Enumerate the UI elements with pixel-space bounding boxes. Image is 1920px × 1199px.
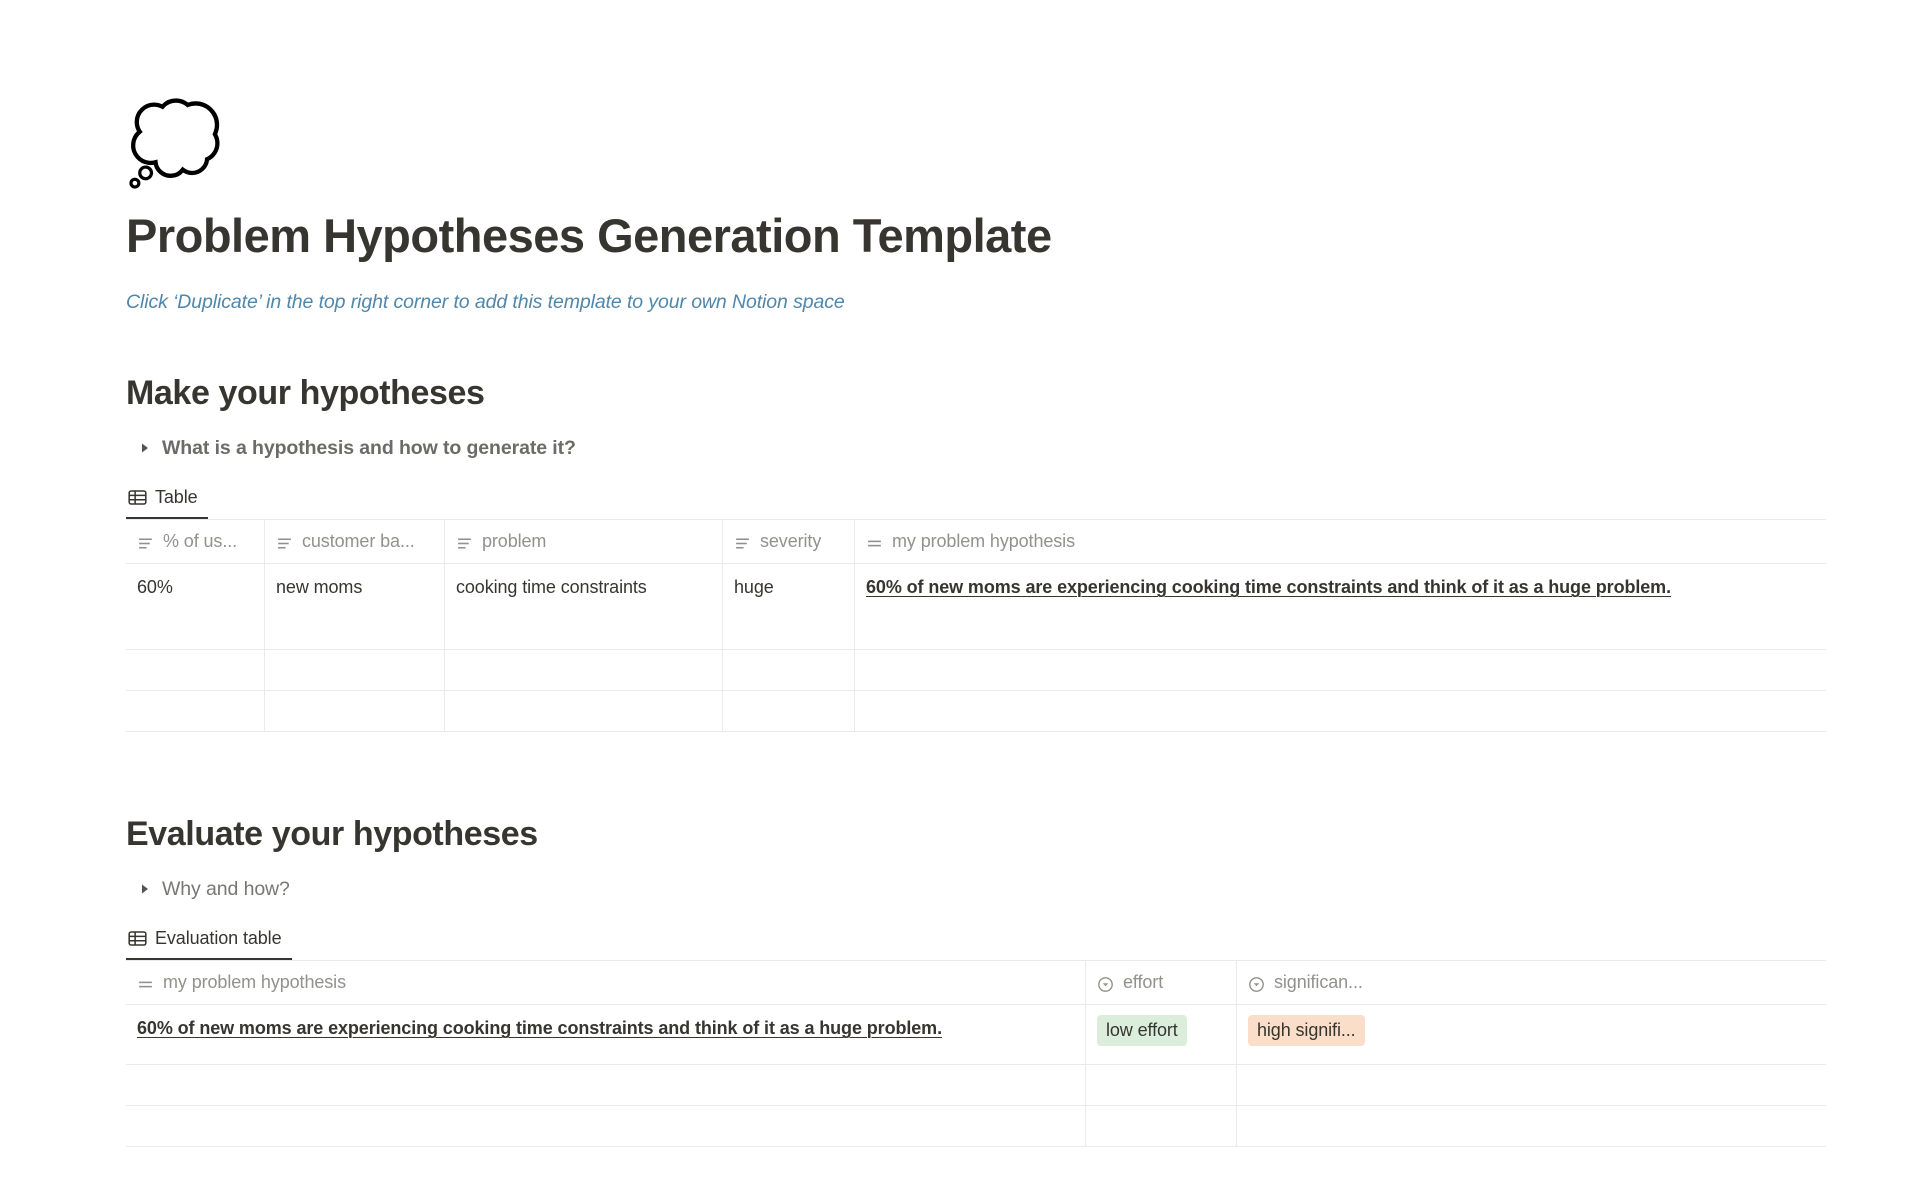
cell-my-problem-hypothesis[interactable]: [855, 650, 1826, 691]
cell-customer-base[interactable]: new moms: [265, 564, 445, 650]
cell-my-problem-hypothesis[interactable]: [855, 691, 1826, 732]
column-header-my-problem-hypothesis[interactable]: my problem hypothesis: [855, 520, 1826, 564]
tab-label: Table: [155, 487, 198, 508]
hypothesis-text: 60% of new moms are experiencing cooking…: [137, 1018, 942, 1038]
tab-label: Evaluation table: [155, 928, 282, 949]
database-view-tabs-evaluate: Evaluation table: [126, 926, 1826, 960]
page-content: 💭 Problem Hypotheses Generation Template…: [126, 0, 1826, 1147]
table-row[interactable]: [126, 1106, 1826, 1147]
thought-balloon-icon[interactable]: 💭: [126, 104, 1826, 200]
table-evaluation: my problem hypothesis effort: [126, 960, 1826, 1147]
column-header-label: significan...: [1274, 969, 1363, 996]
table-make-hypotheses: % of us... customer ba...: [126, 519, 1826, 732]
column-header-label: my problem hypothesis: [163, 969, 346, 996]
cell-significance[interactable]: [1237, 1065, 1826, 1106]
cell-problem[interactable]: [445, 691, 723, 732]
toggle-label: What is a hypothesis and how to generate…: [162, 434, 576, 463]
table-grid-icon: [128, 929, 147, 948]
column-header-effort[interactable]: effort: [1086, 961, 1237, 1005]
toggle-what-is-a-hypothesis[interactable]: What is a hypothesis and how to generate…: [126, 434, 1826, 463]
column-header-label: problem: [482, 528, 546, 555]
page-title[interactable]: Problem Hypotheses Generation Template: [126, 210, 1826, 262]
hypothesis-text: 60% of new moms are experiencing cooking…: [866, 577, 1671, 597]
cell-my-problem-hypothesis[interactable]: 60% of new moms are experiencing cooking…: [855, 564, 1826, 650]
cell-effort[interactable]: [1086, 1065, 1237, 1106]
cell-significance[interactable]: high signifi...: [1237, 1005, 1826, 1065]
cell-customer-base[interactable]: [265, 650, 445, 691]
cell-severity[interactable]: [723, 650, 855, 691]
cell-percent-of-users[interactable]: [126, 691, 265, 732]
column-header-severity[interactable]: severity: [723, 520, 855, 564]
cell-my-problem-hypothesis[interactable]: [126, 1065, 1086, 1106]
toggle-why-and-how[interactable]: Why and how?: [126, 875, 1826, 904]
column-header-my-problem-hypothesis[interactable]: my problem hypothesis: [126, 961, 1086, 1005]
column-header-label: severity: [760, 528, 821, 555]
column-header-significance[interactable]: significan...: [1237, 961, 1826, 1005]
column-header-percent-of-users[interactable]: % of us...: [126, 520, 265, 564]
status-badge-significance: high signifi...: [1248, 1015, 1365, 1046]
table-row[interactable]: [126, 691, 1826, 732]
tab-table[interactable]: Table: [126, 487, 208, 519]
notion-page: 💭 Problem Hypotheses Generation Template…: [0, 0, 1920, 1199]
cell-effort[interactable]: low effort: [1086, 1005, 1237, 1065]
formula-property-icon: [866, 533, 883, 550]
column-header-label: effort: [1123, 969, 1163, 996]
cell-percent-of-users[interactable]: [126, 650, 265, 691]
tab-evaluation-table[interactable]: Evaluation table: [126, 928, 292, 960]
cell-problem[interactable]: cooking time constraints: [445, 564, 723, 650]
toggle-triangle-right-icon[interactable]: [138, 882, 152, 896]
text-property-icon: [137, 533, 154, 550]
page-subtitle[interactable]: Click ‘Duplicate’ in the top right corne…: [126, 288, 1826, 317]
table-grid-icon: [128, 488, 147, 507]
table-header-row: my problem hypothesis effort: [126, 961, 1826, 1005]
cell-my-problem-hypothesis[interactable]: 60% of new moms are experiencing cooking…: [126, 1005, 1086, 1065]
column-header-problem[interactable]: problem: [445, 520, 723, 564]
column-header-label: customer ba...: [302, 528, 415, 555]
table-row[interactable]: 60% of new moms are experiencing cooking…: [126, 1005, 1826, 1065]
table-row[interactable]: [126, 1065, 1826, 1106]
section-heading-make-hypotheses[interactable]: Make your hypotheses: [126, 373, 1826, 414]
text-property-icon: [456, 533, 473, 550]
text-property-icon: [734, 533, 751, 550]
database-view-tabs-make: Table: [126, 485, 1826, 519]
cell-severity[interactable]: huge: [723, 564, 855, 650]
select-property-icon: [1097, 974, 1114, 991]
table-row[interactable]: 60% new moms cooking time constraints hu…: [126, 564, 1826, 650]
table-row[interactable]: [126, 650, 1826, 691]
table-header-row: % of us... customer ba...: [126, 520, 1826, 564]
text-property-icon: [276, 533, 293, 550]
section-heading-evaluate-hypotheses[interactable]: Evaluate your hypotheses: [126, 814, 1826, 855]
status-badge-effort: low effort: [1097, 1015, 1187, 1046]
cell-severity[interactable]: [723, 691, 855, 732]
select-property-icon: [1248, 974, 1265, 991]
formula-property-icon: [137, 974, 154, 991]
column-header-label: my problem hypothesis: [892, 528, 1075, 555]
cell-significance[interactable]: [1237, 1106, 1826, 1147]
toggle-triangle-right-icon[interactable]: [138, 441, 152, 455]
toggle-label: Why and how?: [162, 875, 290, 904]
cell-percent-of-users[interactable]: 60%: [126, 564, 265, 650]
cell-customer-base[interactable]: [265, 691, 445, 732]
column-header-customer-base[interactable]: customer ba...: [265, 520, 445, 564]
cell-effort[interactable]: [1086, 1106, 1237, 1147]
cell-problem[interactable]: [445, 650, 723, 691]
column-header-label: % of us...: [163, 528, 237, 555]
cell-my-problem-hypothesis[interactable]: [126, 1106, 1086, 1147]
